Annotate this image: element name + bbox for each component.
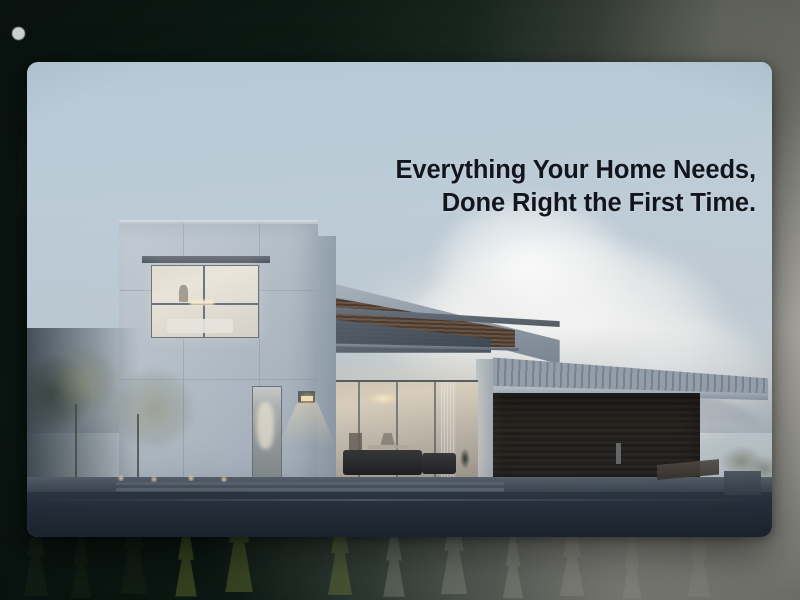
headline-line-1: Everything Your Home Needs, [395, 156, 756, 184]
hero-image-card: Everything Your Home Needs, Done Right t… [27, 62, 772, 537]
dining-table [368, 445, 409, 449]
terrace-post [616, 443, 621, 464]
window-hood [142, 256, 270, 263]
hero-headline: Everything Your Home Needs, Done Right t… [395, 154, 756, 220]
yard-tree [98, 357, 210, 481]
ground-highlight [27, 499, 772, 501]
tree-trunk [137, 414, 139, 481]
hero-banner-page: Everything Your Home Needs, Done Right t… [0, 0, 800, 600]
sofa [343, 450, 422, 475]
house-render [27, 62, 772, 537]
sconce-bulb [301, 396, 313, 401]
landscape-uplight [186, 472, 196, 481]
entry-door [252, 386, 282, 479]
upper-window [151, 265, 260, 338]
landscape-uplight [116, 472, 126, 481]
landscape-uplight [219, 473, 229, 482]
entry-interior-glow [257, 402, 274, 449]
parapet-cap [119, 220, 318, 224]
bedside-lamp-glow [190, 300, 213, 306]
armchair [422, 453, 457, 475]
bed [167, 319, 233, 333]
landscape-uplight [149, 473, 159, 482]
tree-trunk [75, 404, 77, 480]
wing-pillar [476, 359, 492, 481]
dining-chair [349, 433, 362, 451]
planter-box [724, 471, 761, 495]
indoor-plant [458, 447, 472, 476]
table-lamp [381, 433, 395, 445]
ceiling-light [363, 391, 404, 406]
headline-line-2: Done Right the First Time. [395, 187, 756, 220]
living-room-glass-wall [321, 380, 479, 480]
vase [179, 285, 188, 302]
moon-icon [12, 27, 25, 40]
